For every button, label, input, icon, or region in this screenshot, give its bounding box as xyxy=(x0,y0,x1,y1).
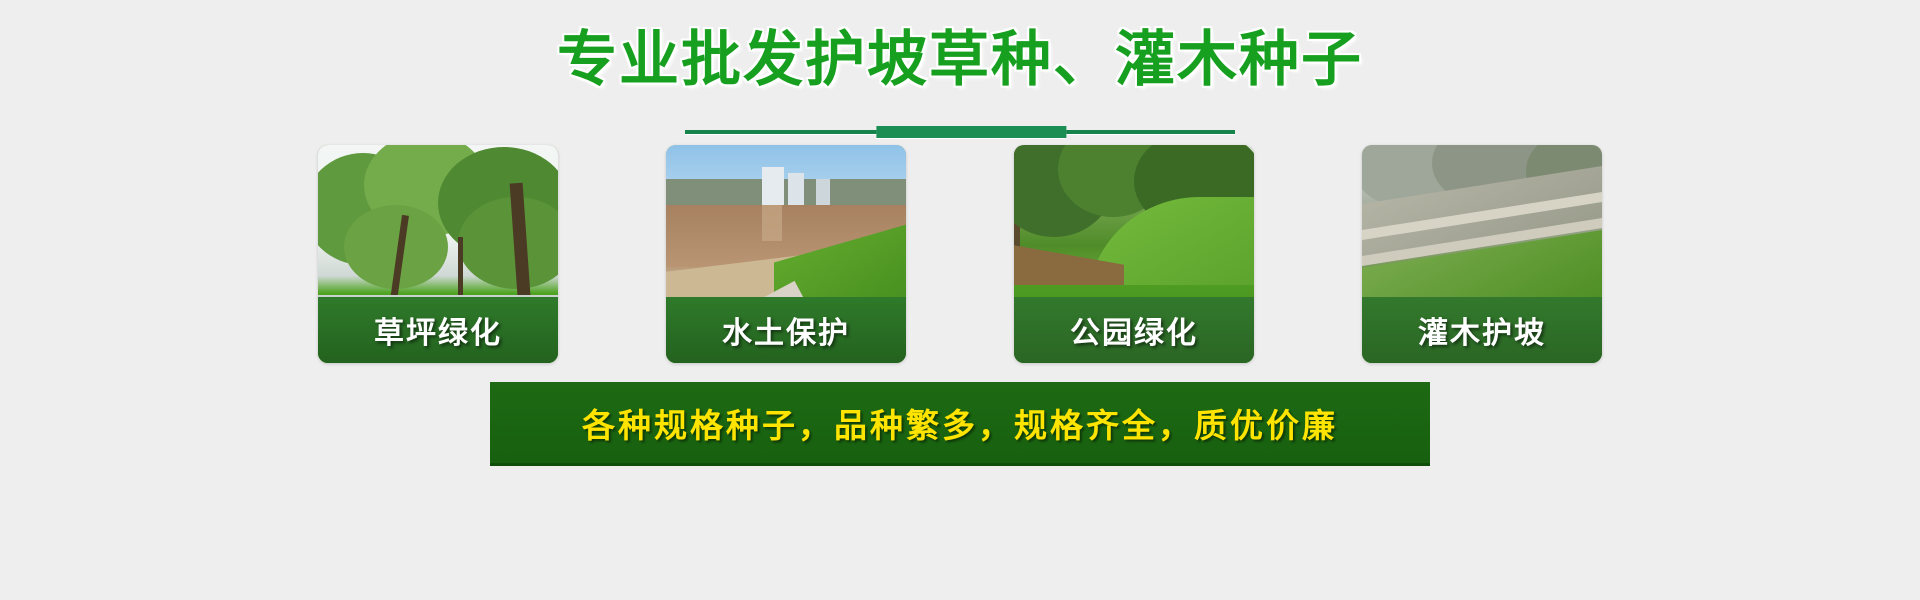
category-card-lawn[interactable]: 草坪绿化 xyxy=(318,145,558,363)
category-label: 公园绿化 xyxy=(1070,308,1198,352)
promo-banner-stage: 专业批发护坡草种、灌木种子 草坪绿化 xyxy=(0,0,1920,600)
category-label: 水土保护 xyxy=(722,308,850,352)
category-card-shrub-slope[interactable]: 灌木护坡 xyxy=(1362,145,1602,363)
page-title-wrap: 专业批发护坡草种、灌木种子 xyxy=(0,22,1920,98)
category-label: 灌木护坡 xyxy=(1418,308,1546,352)
promo-banner-text: 各种规格种子，品种繁多，规格齐全，质优价廉 xyxy=(582,399,1338,447)
title-divider xyxy=(0,124,1920,140)
card-label-band: 草坪绿化 xyxy=(318,297,558,363)
category-card-soil-water[interactable]: 水土保护 xyxy=(666,145,906,363)
card-label-band: 水土保护 xyxy=(666,297,906,363)
promo-banner: 各种规格种子，品种繁多，规格齐全，质优价廉 xyxy=(490,382,1430,466)
category-card-list: 草坪绿化 水土保护 xyxy=(0,145,1920,363)
category-card-park[interactable]: 公园绿化 xyxy=(1014,145,1254,363)
page-title: 专业批发护坡草种、灌木种子 xyxy=(557,22,1363,98)
card-label-band: 公园绿化 xyxy=(1014,297,1254,363)
card-label-band: 灌木护坡 xyxy=(1362,297,1602,363)
category-label: 草坪绿化 xyxy=(374,308,502,352)
divider-knob xyxy=(876,126,1066,138)
